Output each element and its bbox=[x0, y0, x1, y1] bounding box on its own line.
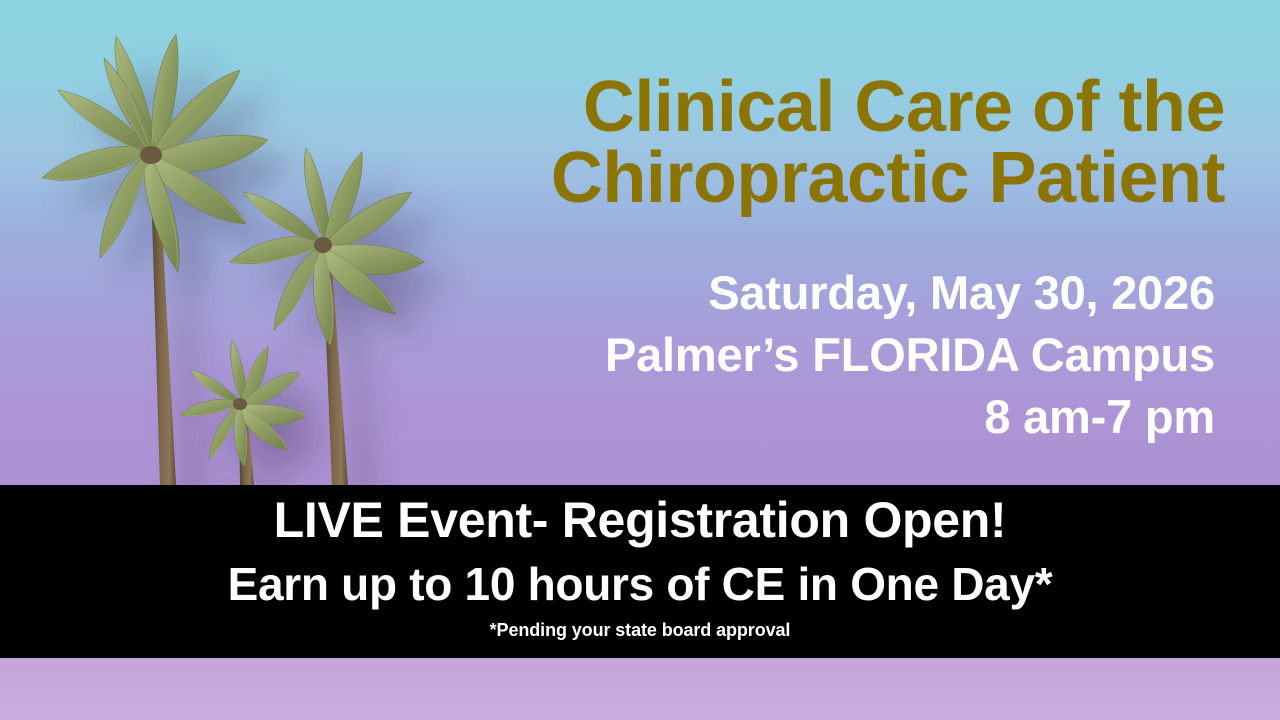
event-title-line-1: Clinical Care of the bbox=[430, 72, 1225, 143]
event-date: Saturday, May 30, 2026 bbox=[430, 262, 1215, 324]
event-title: Clinical Care of the Chiropractic Patien… bbox=[430, 72, 1225, 213]
footer-color-strip bbox=[0, 658, 1280, 720]
event-promo-banner: Clinical Care of the Chiropractic Patien… bbox=[0, 0, 1280, 720]
registration-headline: LIVE Event- Registration Open! bbox=[0, 495, 1280, 545]
ce-hours-subhead: Earn up to 10 hours of CE in One Day* bbox=[0, 561, 1280, 607]
event-details: Saturday, May 30, 2026 Palmer’s FLORIDA … bbox=[430, 262, 1215, 448]
disclaimer-fineprint: *Pending your state board approval bbox=[0, 621, 1280, 639]
event-title-line-2: Chiropractic Patient bbox=[430, 143, 1225, 214]
event-location: Palmer’s FLORIDA Campus bbox=[430, 324, 1215, 386]
announcement-text-group: LIVE Event- Registration Open! Earn up t… bbox=[0, 495, 1280, 639]
event-time: 8 am-7 pm bbox=[430, 386, 1215, 448]
